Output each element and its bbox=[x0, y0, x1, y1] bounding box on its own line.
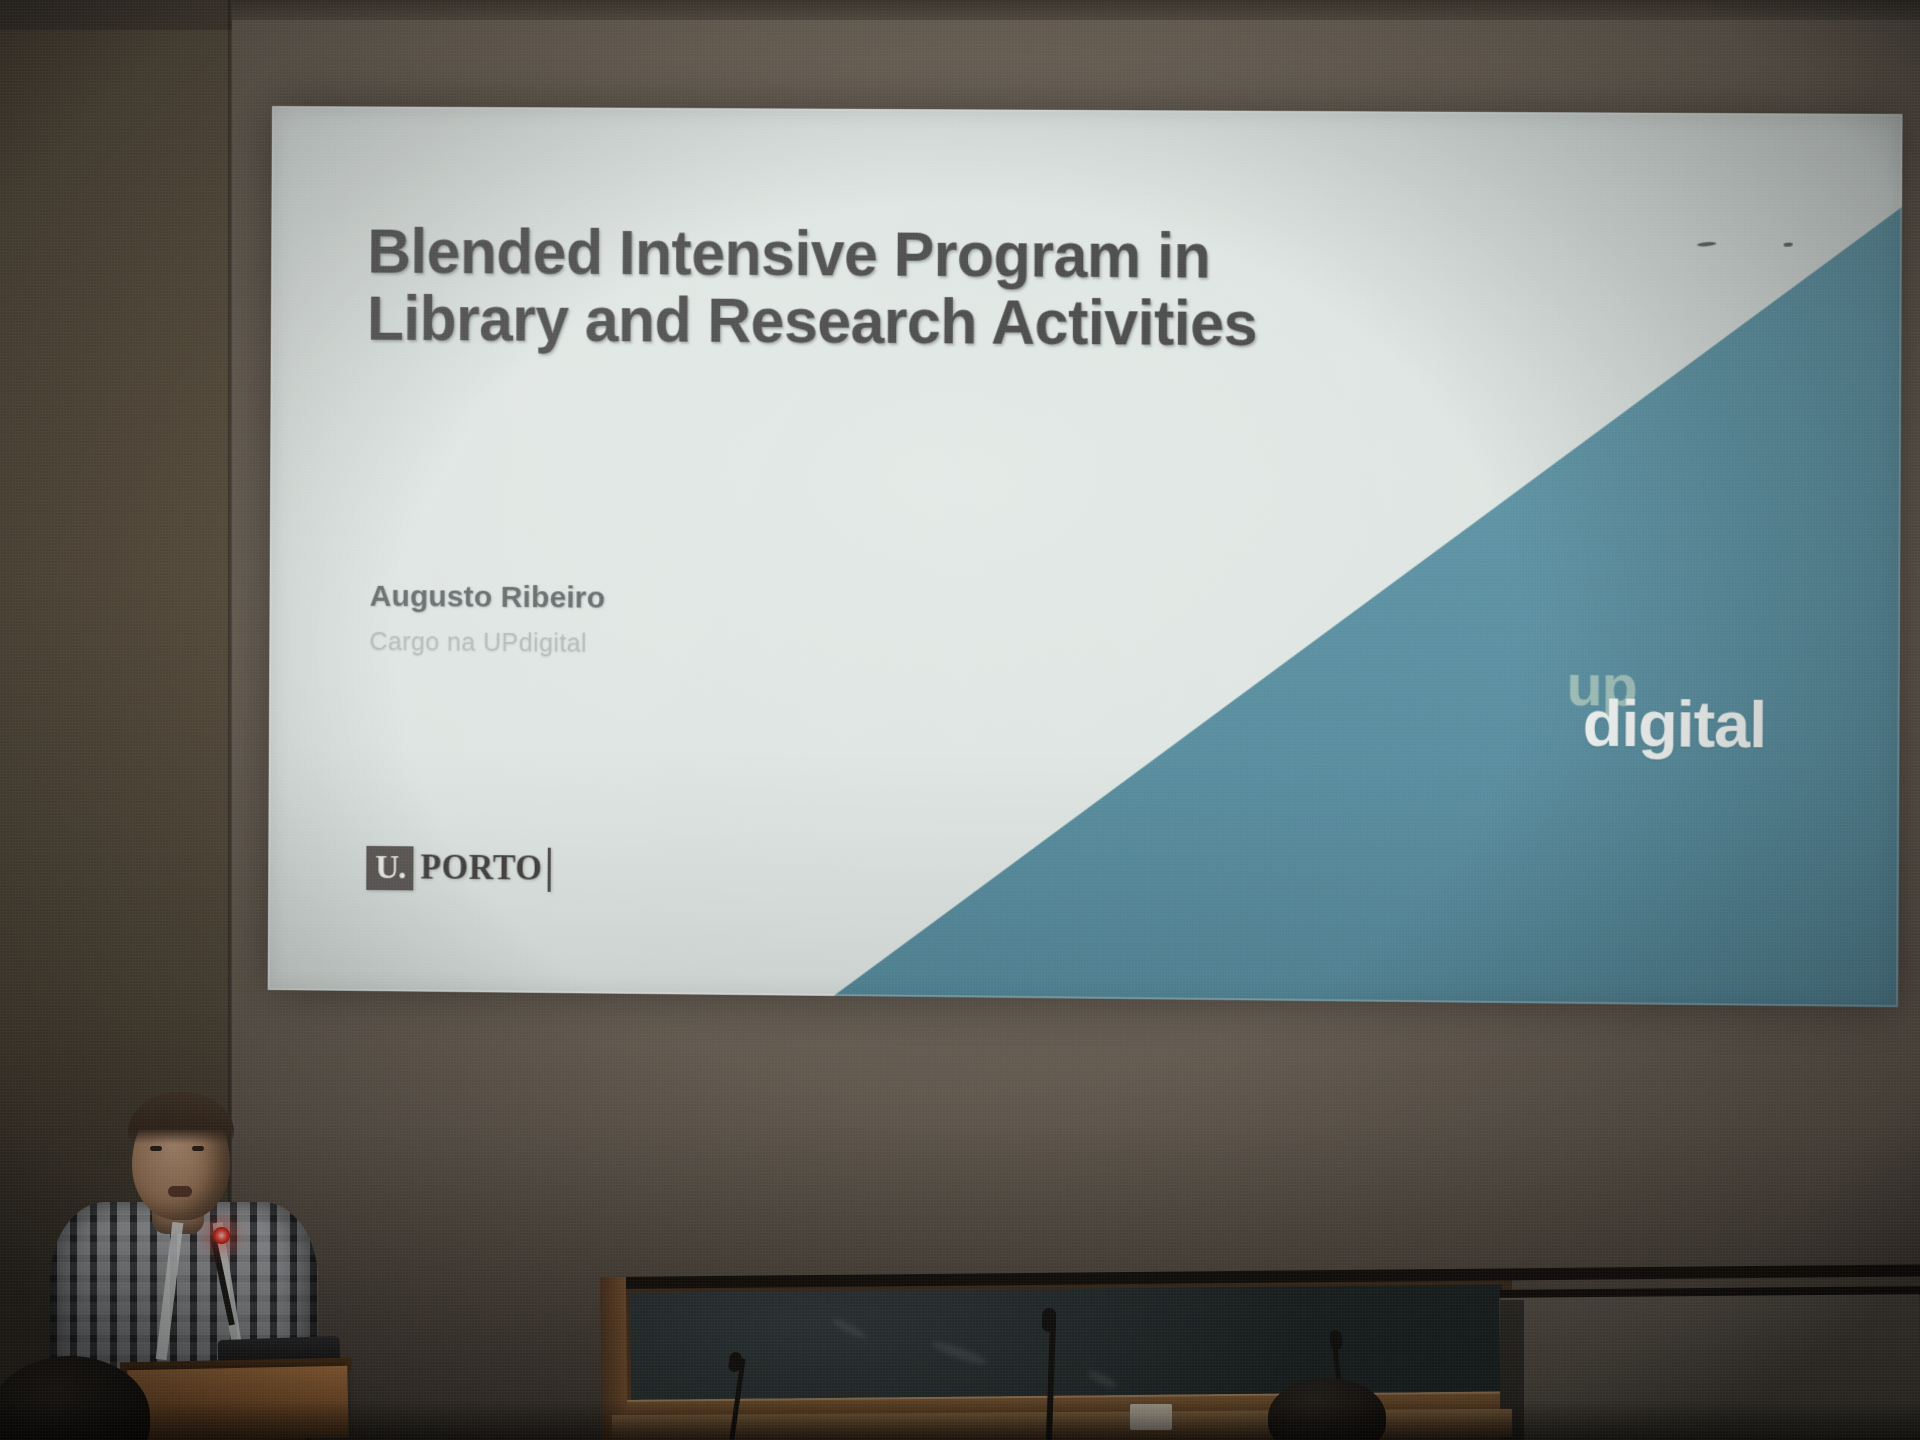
slide-author-block: Augusto Ribeiro Cargo na UPdigital bbox=[369, 580, 605, 659]
screen-speck-icon bbox=[1697, 241, 1717, 247]
speaker-mouth bbox=[168, 1186, 192, 1197]
slide-title-line-1: Blended Intensive Program in bbox=[367, 219, 1344, 292]
chalk-smudge bbox=[931, 1338, 989, 1368]
chalk-smudge bbox=[1085, 1367, 1118, 1391]
podium bbox=[127, 1366, 348, 1440]
desk-papers bbox=[1130, 1404, 1172, 1430]
ceiling-strip bbox=[232, 0, 1920, 20]
presentation-photo-scene: Blended Intensive Program in Library and… bbox=[0, 0, 1920, 1440]
uporto-logo: U. PORTO bbox=[366, 846, 550, 892]
screen-speck-icon bbox=[1783, 242, 1792, 246]
chalkboard-surface bbox=[630, 1284, 1503, 1404]
presentation-slide: Blended Intensive Program in Library and… bbox=[268, 106, 1903, 1007]
uporto-logo-bar bbox=[547, 848, 550, 892]
microphone-led-icon bbox=[213, 1227, 230, 1244]
speaker-hair bbox=[128, 1092, 234, 1144]
updigital-logo-word: digital bbox=[1583, 691, 1767, 757]
chalk-smudge bbox=[831, 1316, 868, 1341]
slide-title: Blended Intensive Program in Library and… bbox=[367, 219, 1385, 360]
speaker-eye-left bbox=[150, 1146, 162, 1151]
right-wall-panel bbox=[1499, 1294, 1920, 1440]
projection-screen: Blended Intensive Program in Library and… bbox=[268, 106, 1903, 1007]
speaker-eye-right bbox=[192, 1146, 204, 1151]
slide-author-name: Augusto Ribeiro bbox=[370, 580, 606, 616]
slide-title-line-2: Library and Research Activities bbox=[367, 286, 1344, 360]
side-wall-left-top bbox=[0, 0, 232, 30]
uporto-logo-word: PORTO bbox=[413, 845, 545, 892]
updigital-logo: up digital bbox=[1560, 657, 1815, 780]
uporto-logo-box: U. bbox=[366, 846, 413, 890]
slide-author-role: Cargo na UPdigital bbox=[369, 628, 605, 659]
